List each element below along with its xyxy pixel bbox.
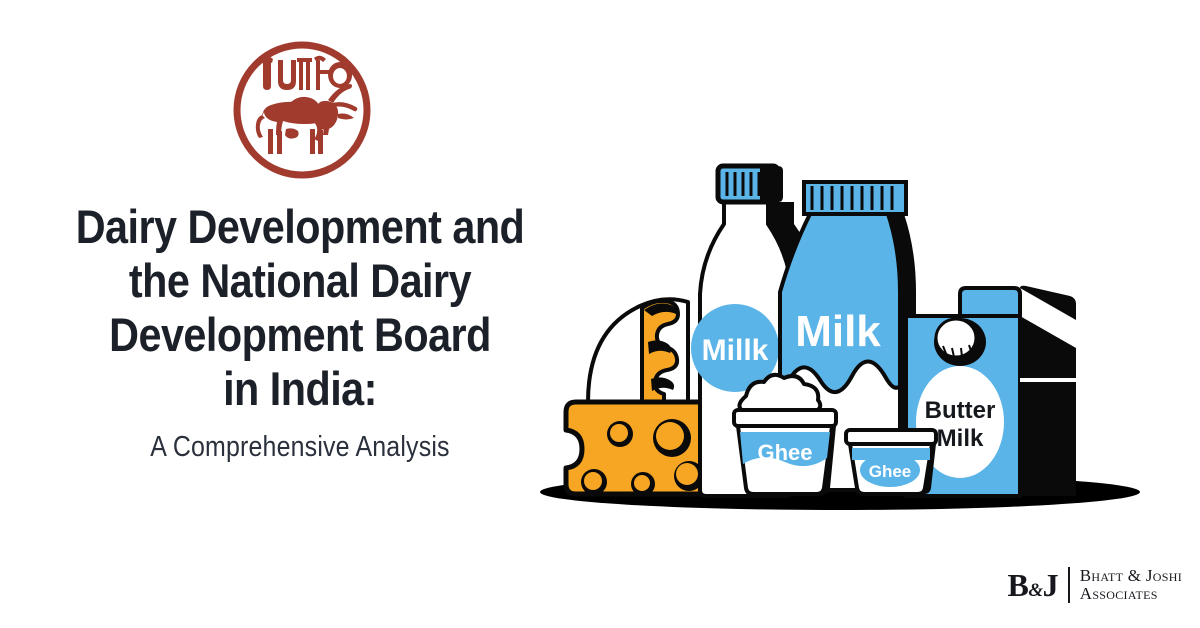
cheese-dome xyxy=(588,299,688,402)
buttermilk-label-line1: Butter xyxy=(925,397,996,424)
buttermilk-label-line2: Milk xyxy=(937,425,984,452)
brand-line-2: Associates xyxy=(1080,585,1182,603)
brand-divider xyxy=(1068,567,1070,603)
ghee-tub-small: Ghee xyxy=(846,430,936,494)
poster-canvas: Dairy Development and the National Dairy… xyxy=(0,0,1200,628)
brand-monogram: B&J xyxy=(1008,569,1069,601)
nddb-logo-emblem xyxy=(228,36,376,184)
title-block: Dairy Development and the National Dairy… xyxy=(0,200,600,464)
ghee-tub-large-label: Ghee xyxy=(757,440,812,465)
brand-monogram-ampersand: & xyxy=(1028,580,1042,601)
page-title: Dairy Development and the National Dairy… xyxy=(36,200,564,416)
brand-monogram-j: J xyxy=(1043,567,1059,603)
ghee-tub-small-label: Ghee xyxy=(869,462,912,481)
page-subtitle: A Comprehensive Analysis xyxy=(42,430,558,464)
milk-bottle-label: Millk xyxy=(702,334,769,367)
milk-pouch-label: Milk xyxy=(795,307,881,356)
brand-wordmark: Bhatt & Joshi Associates xyxy=(1080,567,1182,603)
brand-line-1: Bhatt & Joshi xyxy=(1080,567,1182,585)
dairy-products-illustration: Millk xyxy=(520,130,1140,530)
bottle-cap xyxy=(718,166,783,202)
bhatt-joshi-associates-logo: B&J Bhatt & Joshi Associates xyxy=(1008,564,1182,606)
brand-monogram-b: B xyxy=(1008,567,1029,603)
